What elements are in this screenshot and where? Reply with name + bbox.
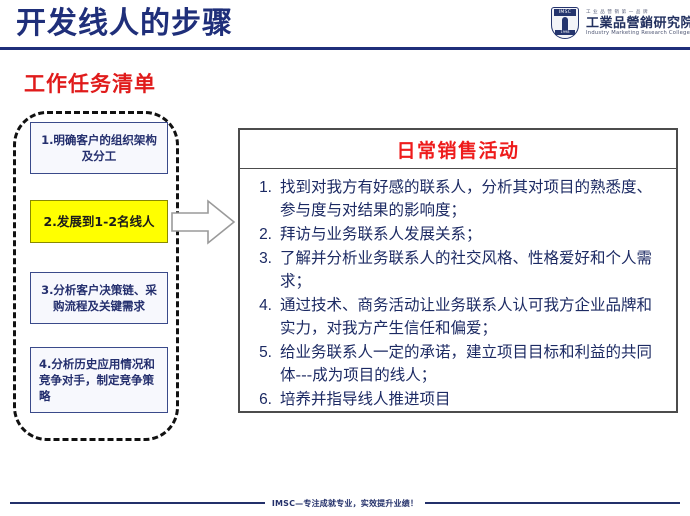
list-item: 2. 拜访与业务联系人发展关系；	[248, 223, 664, 246]
list-item-number: 3.	[248, 247, 280, 270]
brand-logo: IMSC 1998 工 业 品 营 销 第 一 品 牌 工業品營銷研究院 Ind…	[548, 3, 686, 45]
crest-figure-icon	[562, 17, 568, 30]
page-title: 开发线人的步骤	[16, 4, 233, 44]
list-item-text: 了解并分析业务联系人的社交风格、性格爱好和个人需求；	[280, 247, 664, 293]
list-item-text: 找到对我方有好感的联系人，分析其对项目的熟悉度、参与度与对结果的影响度；	[280, 176, 664, 222]
logo-text-block: 工 业 品 营 销 第 一 品 牌 工業品營銷研究院 Industry Mark…	[586, 11, 690, 37]
shield-crest-icon: IMSC 1998	[548, 5, 582, 43]
flow-step-2-highlighted: 2.发展到1-2名线人	[30, 200, 168, 243]
footer-left-rule	[10, 502, 265, 504]
flow-step-4: 4.分析历史应用情况和竞争对手，制定竞争策略	[30, 347, 168, 413]
footer-text: IMSC—专注成就专业，实效提升业绩！	[272, 498, 418, 509]
list-item-text: 培养并指导线人推进项目	[280, 388, 664, 411]
list-item-number: 6.	[248, 388, 280, 411]
list-item-number: 1.	[248, 176, 280, 199]
footer-right-rule	[425, 502, 680, 504]
right-block-arrow-icon	[170, 196, 236, 248]
task-list-heading: 工作任务清单	[24, 68, 156, 98]
title-underline-rule	[0, 47, 690, 50]
crest-initials: IMSC	[554, 9, 576, 16]
list-item-number: 2.	[248, 223, 280, 246]
list-item-text: 拜访与业务联系人发展关系；	[280, 223, 664, 246]
flow-step-1: 1.明确客户的组织架构及分工	[30, 122, 168, 174]
list-item: 5. 给业务联系人一定的承诺，建立项目目标和利益的共同体---成为项目的线人；	[248, 341, 664, 387]
activity-list: 1. 找到对我方有好感的联系人，分析其对项目的熟悉度、参与度与对结果的影响度； …	[240, 169, 676, 411]
daily-sales-activity-panel: 日常销售活动 1. 找到对我方有好感的联系人，分析其对项目的熟悉度、参与度与对结…	[238, 128, 678, 413]
activity-panel-title: 日常销售活动	[240, 130, 676, 169]
list-item: 6. 培养并指导线人推进项目	[248, 388, 664, 411]
footer: IMSC—专注成就专业，实效提升业绩！	[0, 495, 690, 511]
list-item: 4. 通过技术、商务活动让业务联系人认可我方企业品牌和实力，对我方产生信任和偏爱…	[248, 294, 664, 340]
list-item-number: 5.	[248, 341, 280, 364]
logo-name-chinese: 工業品營銷研究院	[586, 17, 690, 31]
logo-name-english: Industry Marketing Research College	[586, 31, 690, 36]
list-item-number: 4.	[248, 294, 280, 317]
list-item: 1. 找到对我方有好感的联系人，分析其对项目的熟悉度、参与度与对结果的影响度；	[248, 176, 664, 222]
list-item: 3. 了解并分析业务联系人的社交风格、性格爱好和个人需求；	[248, 247, 664, 293]
flow-step-3: 3.分析客户决策链、采购流程及关键需求	[30, 272, 168, 324]
list-item-text: 通过技术、商务活动让业务联系人认可我方企业品牌和实力，对我方产生信任和偏爱；	[280, 294, 664, 340]
crest-year: 1998	[555, 30, 575, 35]
list-item-text: 给业务联系人一定的承诺，建立项目目标和利益的共同体---成为项目的线人；	[280, 341, 664, 387]
